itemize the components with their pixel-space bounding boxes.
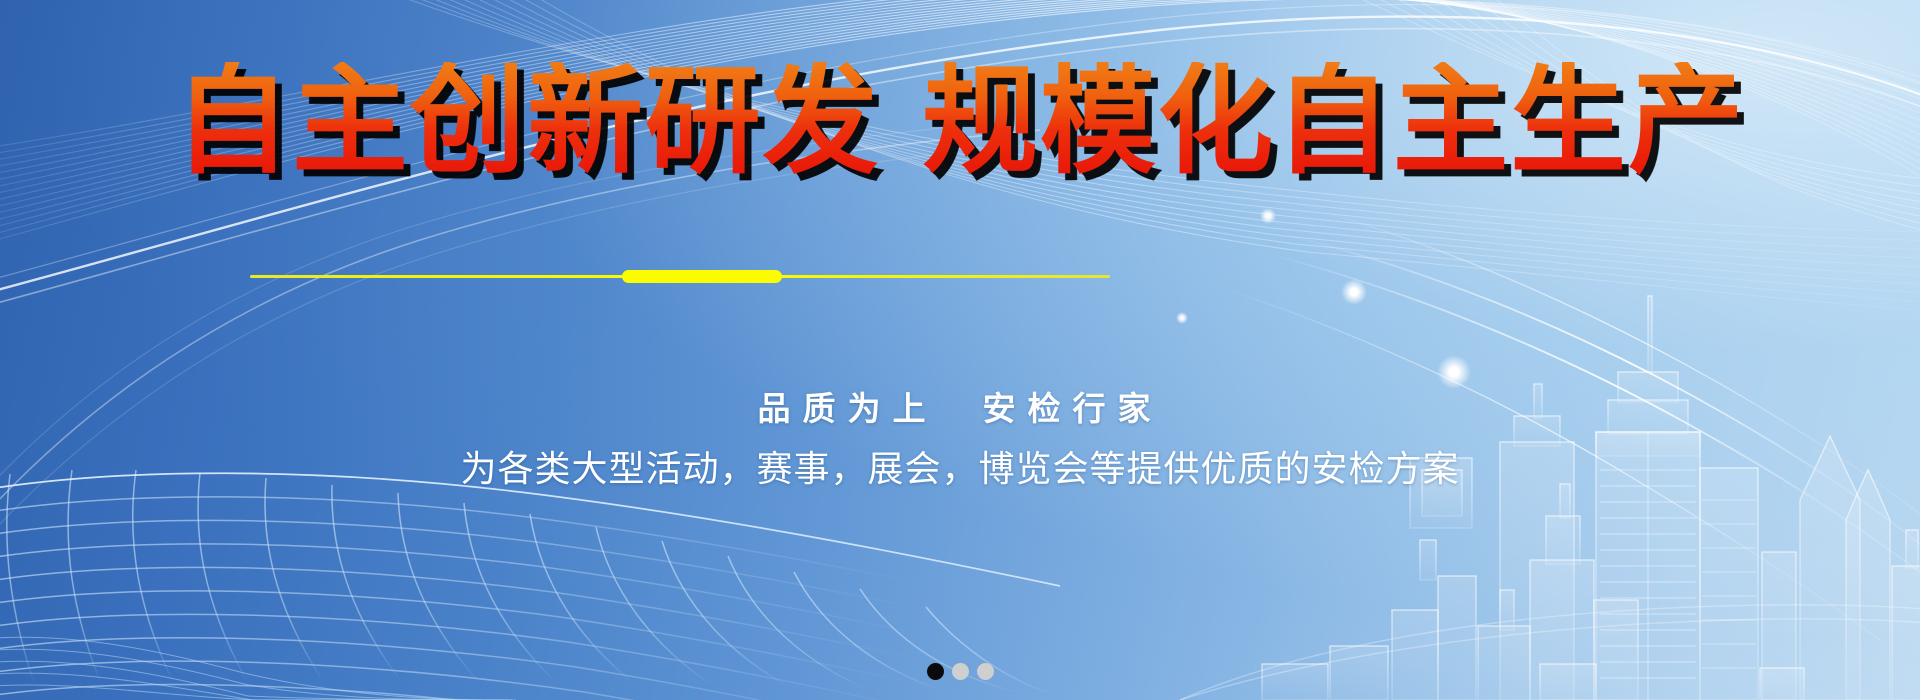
carousel-dots xyxy=(0,663,1920,680)
hero-banner: 自主创新研发 规模化自主生产 品质为上 安检行家 为各类大型活动，赛事，展会，博… xyxy=(0,0,1920,700)
carousel-dot-2[interactable] xyxy=(952,663,969,680)
banner-subtitle-secondary: 为各类大型活动，赛事，展会，博览会等提供优质的安检方案 xyxy=(0,440,1920,492)
banner-headline: 自主创新研发 规模化自主生产 xyxy=(19,62,1901,180)
yellow-divider xyxy=(250,270,1110,284)
banner-subtitle-primary: 品质为上 安检行家 xyxy=(0,382,1920,430)
divider-thick-segment xyxy=(622,270,782,283)
carousel-dot-3[interactable] xyxy=(977,663,994,680)
carousel-dot-1[interactable] xyxy=(927,663,944,680)
